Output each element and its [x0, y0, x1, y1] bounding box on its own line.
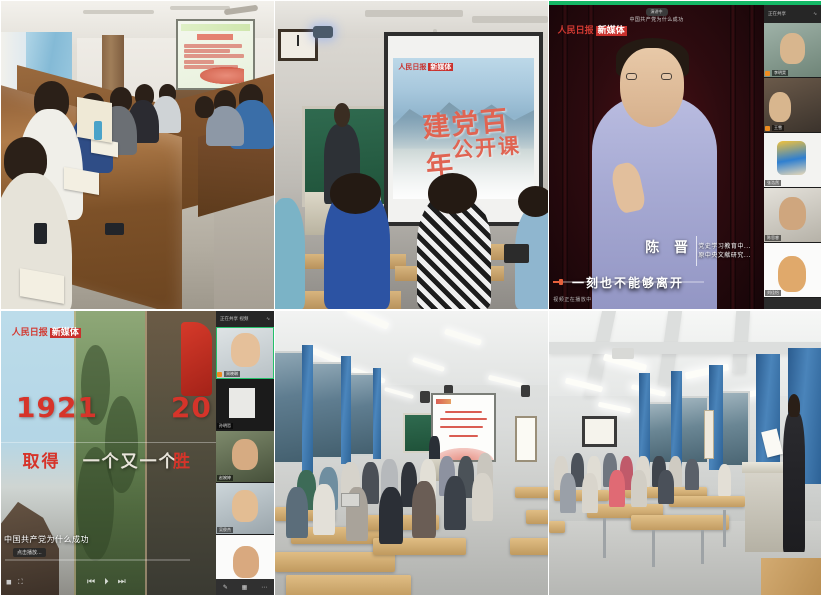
participant-tile-active[interactable]: 周晓琳 — [216, 327, 274, 379]
student — [718, 464, 732, 495]
photo-collage: 人民日报新媒体 建党百年 公开课 演讲中 中国共产党为什么 — [0, 0, 822, 596]
participant-tile[interactable]: 吴俊杰 — [216, 483, 274, 535]
window-curtain — [373, 368, 381, 459]
brand-text: 人民日报 — [12, 328, 48, 338]
university-logo — [436, 399, 451, 404]
slide-text-line — [184, 60, 214, 64]
video-caption: 中国共产党为什么成功 — [4, 534, 89, 545]
video-title: 中国共产党为什么成功 — [549, 16, 764, 23]
mic-muted-icon — [217, 372, 222, 377]
next-icon[interactable]: ⏭ — [118, 577, 126, 587]
student-head — [330, 173, 382, 213]
slide-text-line — [440, 418, 487, 420]
student-desk — [510, 538, 548, 555]
brand-text: 人民日报 — [558, 26, 594, 36]
participant-filmstrip[interactable]: 正在共享 视频 ∿ 周晓琳 孙明哲 赵婉婷 吴俊杰 郑雅 — [216, 311, 274, 595]
phone-on-desk — [34, 223, 48, 245]
signal-icon: ∿ — [266, 317, 270, 322]
meeting-toolbar[interactable]: ✎ ▦ ⋯ — [216, 579, 274, 595]
brand-badge: 新媒体 — [50, 328, 81, 338]
brand-badge: 新媒体 — [428, 63, 453, 71]
curtain-fold — [730, 5, 736, 309]
signal-icon: ∿ — [813, 12, 817, 17]
lecturer-face — [620, 48, 685, 127]
china-map-graphic — [200, 67, 244, 84]
speaker-title-2: 原中央文献研究... — [698, 251, 751, 260]
student — [286, 487, 308, 538]
window-curtain — [302, 345, 313, 473]
previous-icon[interactable]: ⏮ — [87, 577, 95, 587]
projection-screen — [176, 19, 255, 90]
desk-leg — [652, 530, 655, 567]
participant-tile[interactable]: 李明昊 — [764, 23, 821, 78]
wall-clock-icon — [278, 29, 318, 61]
phrase-left: 取得 — [23, 447, 61, 472]
player-tooltip: 点击播放... — [13, 548, 46, 557]
window — [647, 402, 674, 464]
participant-name: 刘佳怡 — [765, 290, 781, 296]
participant-name: 李明昊 — [772, 70, 788, 76]
wood-platform — [761, 558, 821, 595]
layout-icon[interactable]: ▦ — [242, 584, 248, 591]
panel-video-conference-lecturer: 演讲中 中国共产党为什么成功 人民日报新媒体 党史学习教育中... 原中央文献研… — [549, 1, 821, 309]
fullscreen-icon[interactable]: ⛶ — [18, 578, 23, 587]
participant-tile[interactable]: 陈思睿 — [764, 188, 821, 243]
video-progress-bar[interactable] — [553, 281, 704, 283]
student-desk — [631, 515, 729, 529]
ceiling-duct — [472, 16, 548, 23]
panel-lecture-hall-students — [275, 311, 548, 595]
student — [631, 470, 647, 507]
window-curtain — [341, 356, 352, 464]
year-label-right: 20 — [171, 391, 212, 424]
speaker-box — [420, 391, 430, 403]
wall-calligraphy-frame — [582, 416, 617, 447]
phrase-middle: 一个又一个 — [83, 447, 178, 472]
slide-title-sub: 公开课 — [451, 129, 522, 164]
participant-name: 赵婉婷 — [217, 475, 233, 481]
student-head — [518, 186, 548, 217]
progress-handle[interactable] — [559, 279, 563, 285]
projection-screen — [431, 393, 497, 461]
participant-face — [769, 92, 792, 122]
stop-icon[interactable]: ◼ — [6, 578, 12, 587]
video-stage: 演讲中 中国共产党为什么成功 人民日报新媒体 党史学习教育中... 原中央文献研… — [549, 5, 764, 309]
participant-tile[interactable]: 孙明哲 — [216, 379, 274, 431]
participant-face — [779, 197, 806, 230]
ceiling-light — [384, 386, 414, 398]
student — [685, 459, 699, 490]
mic-muted-icon — [765, 71, 770, 76]
participant-face — [778, 256, 807, 292]
student — [275, 198, 305, 309]
participant-tile[interactable]: 王雪 — [764, 78, 821, 133]
video-surface: 人民日报新媒体 1921 20 取得 一个又一个 胜 中国共产党为什么成功 点击… — [1, 311, 216, 595]
participant-face — [780, 33, 805, 64]
people-daily-logo: 人民日报新媒体 — [12, 325, 81, 338]
student — [658, 470, 674, 504]
desk-leg — [701, 530, 704, 564]
phone-on-desk — [105, 223, 124, 235]
ceiling-panel — [170, 6, 230, 10]
brand-text: 人民日报 — [398, 63, 426, 71]
slide-title-block — [197, 34, 233, 39]
participant-name: 陈思睿 — [765, 235, 781, 241]
ceiling-duct — [365, 10, 463, 17]
filmstrip-header-label: 正在共享 — [768, 11, 786, 17]
participant-avatar — [777, 141, 807, 176]
participant-face — [231, 333, 260, 367]
curtain-fold — [749, 5, 755, 309]
student-desk — [549, 521, 565, 532]
student — [582, 473, 598, 513]
wall-scroll — [704, 410, 714, 458]
brand-badge: 新媒体 — [596, 26, 627, 36]
annotate-icon[interactable]: ✎ — [223, 584, 228, 591]
speaker-caption: 党史学习教育中... 原中央文献研究... — [698, 242, 751, 260]
participant-background — [229, 388, 256, 418]
participant-name: 吴俊杰 — [217, 527, 233, 533]
student — [313, 484, 335, 535]
player-status-text: 视频正在播放中 — [553, 296, 592, 303]
more-icon[interactable]: ⋯ — [261, 584, 267, 591]
slide-text-line — [184, 44, 243, 48]
mic-muted-icon — [765, 126, 770, 131]
panel-classroom-projection-opening-title: 人民日报新媒体 建党百年 公开课 — [275, 1, 548, 309]
participant-face — [232, 490, 258, 522]
wall-poster — [515, 416, 537, 461]
people-daily-logo: 人民日报新媒体 — [398, 62, 453, 72]
student-head — [428, 173, 477, 213]
eyeglasses-icon — [626, 73, 637, 80]
podium — [745, 467, 789, 552]
panel-seminar-room-students-taking-notes — [1, 1, 274, 309]
people-daily-logo: 人民日报新媒体 — [558, 23, 627, 36]
phone-in-hand — [94, 121, 102, 139]
laptop-on-desk — [341, 493, 360, 507]
slide-text-line — [440, 426, 483, 428]
transport-controls[interactable]: ⏮ ⏵ ⏭ — [87, 577, 126, 587]
panel-classroom-student-presenting — [549, 311, 821, 595]
player-controls[interactable]: ◼ ⛶ — [6, 578, 23, 587]
ceiling-projector-icon — [612, 348, 634, 359]
slide-title-line — [445, 411, 482, 413]
participant-face — [233, 546, 259, 578]
desk-leg — [603, 518, 606, 558]
curtain-fold — [562, 5, 568, 309]
student — [609, 470, 625, 507]
desk-leg — [723, 510, 726, 547]
participant-tile[interactable]: 张浩然 — [764, 133, 821, 188]
participant-tile[interactable]: 刘佳怡 — [764, 243, 821, 298]
filmstrip-header: 正在共享 视频 ∿ — [216, 311, 274, 327]
window-curtain — [756, 354, 780, 479]
student — [560, 473, 576, 513]
participant-name: 王雪 — [772, 125, 784, 131]
panel-video-player-timeline: 人民日报新媒体 1921 20 取得 一个又一个 胜 中国共产党为什么成功 点击… — [1, 311, 274, 595]
filmstrip-header: 正在共享 ∿ — [764, 5, 821, 23]
red-flag-graphic — [181, 322, 212, 396]
participant-name: 张浩然 — [765, 180, 781, 186]
student — [412, 481, 437, 538]
student — [444, 476, 466, 530]
slide-text-line — [449, 435, 477, 437]
student-desk — [515, 487, 548, 498]
ceiling-panel — [83, 10, 154, 14]
slide-header-band — [181, 24, 250, 31]
student-desk — [286, 575, 412, 595]
window — [310, 362, 343, 459]
video-progress-bar[interactable] — [5, 559, 190, 561]
phrase-right: 胜 — [173, 447, 192, 472]
student — [472, 473, 494, 521]
student-desk — [275, 552, 395, 572]
timeline-rule — [1, 442, 216, 443]
speaker-name: 陈 晋 — [645, 237, 693, 257]
eyeglasses-icon — [661, 73, 672, 80]
window — [349, 373, 376, 455]
student-desk — [526, 510, 548, 524]
student — [379, 487, 404, 544]
year-label-left: 1921 — [16, 391, 98, 424]
ceiling-beam — [549, 342, 821, 353]
student-desk — [669, 496, 745, 507]
status-pill: 演讲中 — [646, 8, 668, 16]
play-icon[interactable]: ⏵ — [104, 577, 109, 587]
speaker-title-1: 党史学习教育中... — [698, 242, 751, 251]
device-on-desk — [504, 244, 529, 262]
ceiling-light — [598, 401, 631, 413]
student-head — [195, 96, 214, 118]
slide-text-line — [184, 49, 231, 53]
participant-filmstrip[interactable]: 正在共享 ∿ 李明昊 王雪 张浩然 陈思睿 — [764, 5, 821, 309]
participant-name: 孙明哲 — [217, 423, 233, 429]
filmstrip-header-label: 正在共享 视频 — [220, 316, 248, 322]
frame-divider — [74, 311, 76, 595]
slide-text-line — [184, 54, 244, 58]
participant-name: 周晓琳 — [224, 371, 240, 377]
presenting-student — [783, 413, 805, 552]
projector-lamp-icon — [313, 26, 333, 38]
participant-face — [232, 439, 258, 470]
speaker-box — [521, 385, 530, 397]
participant-tile[interactable]: 赵婉婷 — [216, 431, 274, 483]
